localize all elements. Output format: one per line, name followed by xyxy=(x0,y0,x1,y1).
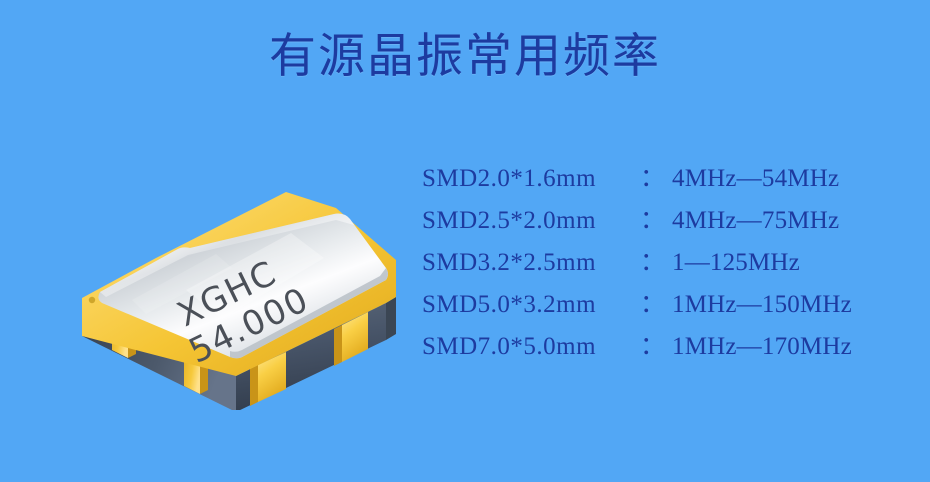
spec-size: SMD5.0*3.2mm xyxy=(422,284,640,326)
slide-canvas: 有源晶振常用频率 xyxy=(0,0,930,482)
spec-colon: ： xyxy=(640,326,672,368)
spec-size: SMD3.2*2.5mm xyxy=(422,242,640,284)
spec-size: SMD7.0*5.0mm xyxy=(422,326,640,368)
spec-row: SMD5.0*3.2mm ： 1MHz—150MHz xyxy=(422,284,892,326)
spec-range: 1—125MHz xyxy=(672,242,892,284)
package-body-right xyxy=(386,297,396,340)
pin-one-marker xyxy=(89,297,95,303)
spec-colon: ： xyxy=(640,200,672,242)
spec-colon: ： xyxy=(640,284,672,326)
spec-range: 4MHz—75MHz xyxy=(672,200,892,242)
spec-row: SMD2.0*1.6mm ： 4MHz—54MHz xyxy=(422,158,892,200)
spec-row: SMD7.0*5.0mm ： 1MHz—170MHz xyxy=(422,326,892,368)
crystal-oscillator-image: XGHC 54.000 xyxy=(36,140,416,410)
spec-colon: ： xyxy=(640,158,672,200)
spec-row: SMD3.2*2.5mm ： 1—125MHz xyxy=(422,242,892,284)
spec-range: 4MHz—54MHz xyxy=(672,158,892,200)
spec-row: SMD2.5*2.0mm ： 4MHz—75MHz xyxy=(422,200,892,242)
spec-range: 1MHz—150MHz xyxy=(672,284,892,326)
spec-range: 1MHz—170MHz xyxy=(672,326,892,368)
spec-size: SMD2.5*2.0mm xyxy=(422,200,640,242)
spec-size: SMD2.0*1.6mm xyxy=(422,158,640,200)
frequency-spec-list: SMD2.0*1.6mm ： 4MHz—54MHz SMD2.5*2.0mm ：… xyxy=(422,158,892,368)
page-title: 有源晶振常用频率 xyxy=(0,28,930,86)
spec-colon: ： xyxy=(640,242,672,284)
